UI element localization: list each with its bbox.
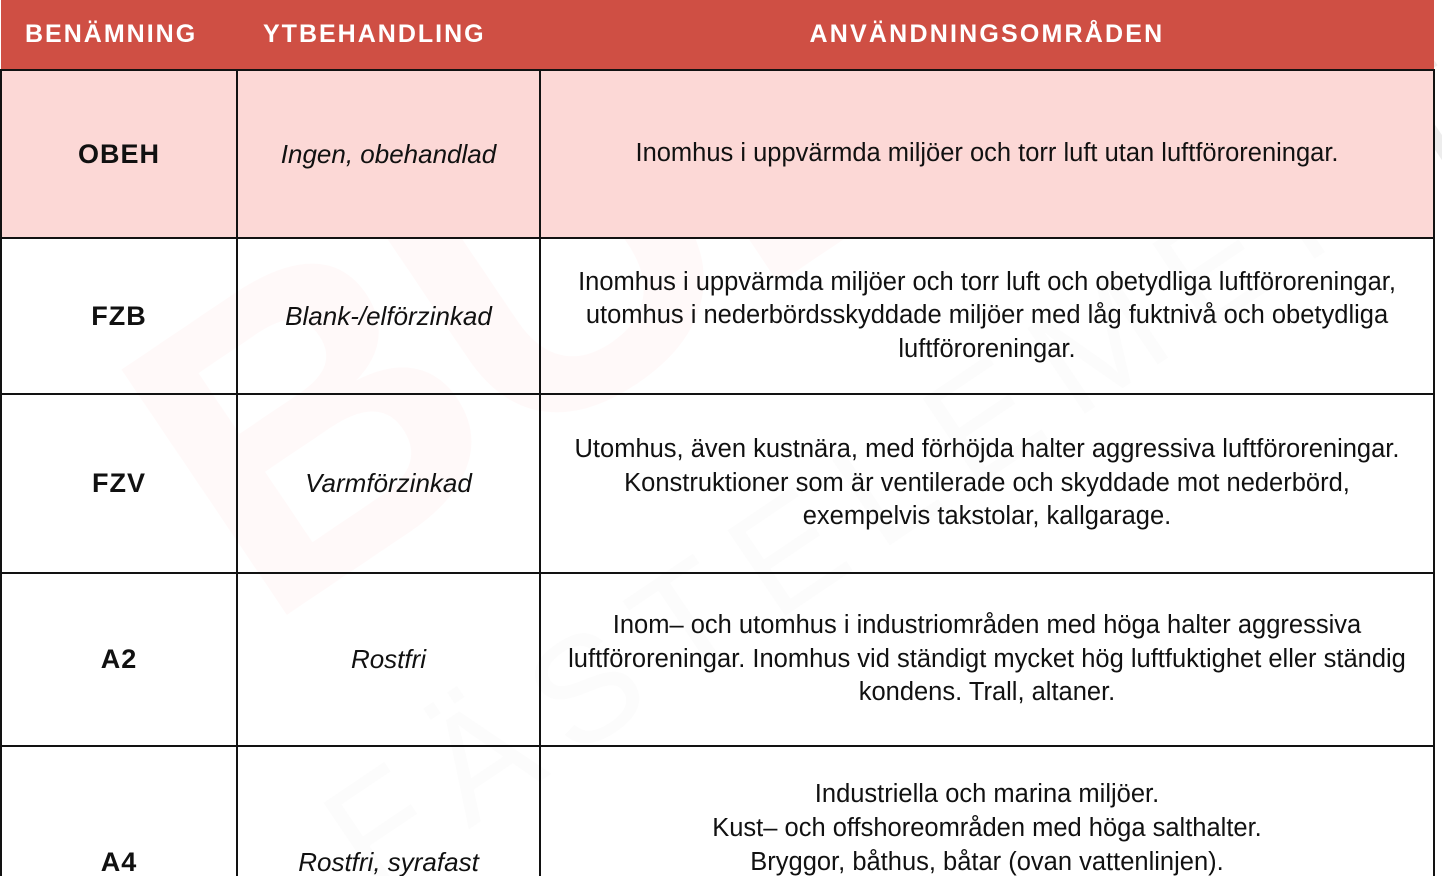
cell-benamning: OBEH (1, 70, 237, 238)
cell-anvandningsomraden: Inom– och utomhus i industriområden med … (540, 573, 1434, 746)
table-row: A4 Rostfri, syrafast Industriella och ma… (1, 746, 1434, 876)
table-row: FZB Blank-/elförzinkad Inomhus i uppvärm… (1, 238, 1434, 394)
usage-text-line: Industriella och marina miljöer. (559, 778, 1415, 812)
cell-benamning: A4 (1, 746, 237, 876)
cell-ytbehandling: Rostfri (237, 573, 540, 746)
table-header-row: BENÄMNING YTBEHANDLING ANVÄNDNINGSOMRÅDE… (1, 0, 1434, 70)
table-header: BENÄMNING YTBEHANDLING ANVÄNDNINGSOMRÅDE… (1, 0, 1434, 70)
table-row: OBEH Ingen, obehandlad Inomhus i uppvärm… (1, 70, 1434, 238)
surface-treatment-table: BENÄMNING YTBEHANDLING ANVÄNDNINGSOMRÅDE… (0, 0, 1435, 876)
table-body: OBEH Ingen, obehandlad Inomhus i uppvärm… (1, 70, 1434, 876)
table-row: FZV Varmförzinkad Utomhus, även kustnära… (1, 394, 1434, 573)
cell-ytbehandling: Varmförzinkad (237, 394, 540, 573)
cell-benamning: FZV (1, 394, 237, 573)
cell-benamning: A2 (1, 573, 237, 746)
cell-anvandningsomraden: Utomhus, även kustnära, med förhöjda hal… (540, 394, 1434, 573)
cell-anvandningsomraden: Inomhus i uppvärmda miljöer och torr luf… (540, 238, 1434, 394)
cell-anvandningsomraden: Inomhus i uppvärmda miljöer och torr luf… (540, 70, 1434, 238)
usage-text-line: Bryggor, båthus, båtar (ovan vattenlinje… (559, 846, 1415, 876)
table-row: A2 Rostfri Inom– och utomhus i industrio… (1, 573, 1434, 746)
column-header-benamning: BENÄMNING (1, 0, 237, 70)
cell-benamning: FZB (1, 238, 237, 394)
table-page: BULTAB FÄSTELEMENT BENÄMNING YTBEHANDLIN… (0, 0, 1442, 876)
cell-ytbehandling: Ingen, obehandlad (237, 70, 540, 238)
column-header-ytbehandling: YTBEHANDLING (237, 0, 540, 70)
cell-ytbehandling: Rostfri, syrafast (237, 746, 540, 876)
cell-anvandningsomraden: Industriella och marina miljöer.Kust– oc… (540, 746, 1434, 876)
cell-ytbehandling: Blank-/elförzinkad (237, 238, 540, 394)
usage-text-line: Kust– och offshoreområden med höga salth… (559, 812, 1415, 846)
surface-treatment-table-wrapper: BENÄMNING YTBEHANDLING ANVÄNDNINGSOMRÅDE… (0, 0, 1433, 876)
column-header-anvandningsomraden: ANVÄNDNINGSOMRÅDEN (540, 0, 1434, 70)
